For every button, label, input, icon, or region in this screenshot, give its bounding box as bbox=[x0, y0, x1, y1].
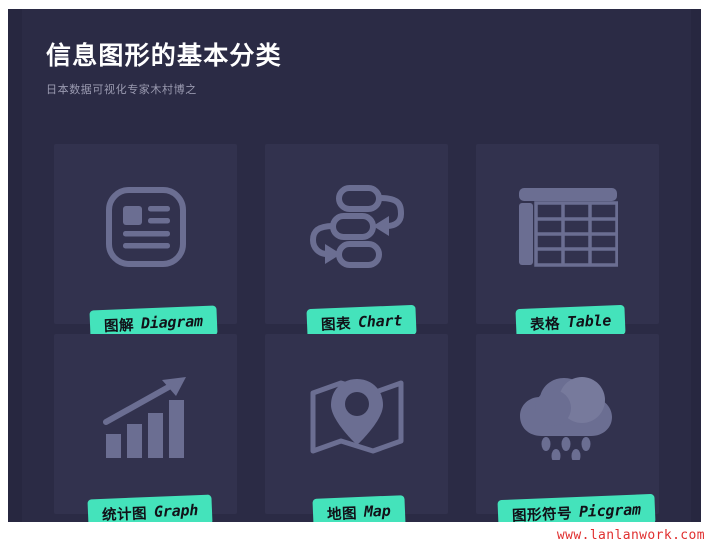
card-label-cn: 表格 bbox=[530, 312, 561, 334]
category-card-diagram[interactable]: 图解 Diagram bbox=[54, 144, 237, 324]
table-icon bbox=[476, 144, 659, 324]
card-label-graph: 统计图 Graph bbox=[87, 495, 212, 522]
card-label-en: Graph bbox=[154, 501, 199, 521]
category-card-picgram[interactable]: 图形符号 Picgram bbox=[476, 334, 659, 514]
card-label-cn: 图解 bbox=[104, 313, 135, 335]
category-card-chart[interactable]: 图表 Chart bbox=[265, 144, 448, 324]
card-label-en: Diagram bbox=[141, 312, 204, 332]
card-label-cn: 统计图 bbox=[102, 502, 148, 522]
card-label-en: Table bbox=[567, 311, 612, 331]
card-label-cn: 图表 bbox=[321, 312, 352, 334]
category-grid: 图解 Diagram 图 bbox=[54, 144, 660, 514]
card-label-map: 地图 Map bbox=[312, 495, 405, 522]
watermark: www.lanlanwork.com bbox=[557, 528, 705, 543]
page-subtitle: 日本数据可视化专家木村博之 bbox=[46, 81, 606, 97]
map-pin-icon bbox=[265, 334, 448, 514]
slide-header: 信息图形的基本分类 日本数据可视化专家木村博之 bbox=[46, 42, 606, 97]
card-label-cn: 图形符号 bbox=[512, 502, 573, 522]
slide-canvas: 信息图形的基本分类 日本数据可视化专家木村博之 图解 Diagram bbox=[8, 9, 701, 522]
card-label-en: Chart bbox=[358, 311, 403, 331]
card-label-cn: 地图 bbox=[327, 502, 358, 522]
rain-cloud-icon bbox=[476, 334, 659, 514]
diagram-icon bbox=[54, 144, 237, 324]
card-label-en: Map bbox=[364, 502, 391, 521]
category-card-map[interactable]: 地图 Map bbox=[265, 334, 448, 514]
bar-chart-arrow-icon bbox=[54, 334, 237, 514]
category-card-table[interactable]: 表格 Table bbox=[476, 144, 659, 324]
page-title: 信息图形的基本分类 bbox=[46, 42, 606, 71]
flowchart-icon bbox=[265, 144, 448, 324]
category-card-graph[interactable]: 统计图 Graph bbox=[54, 334, 237, 514]
card-label-en: Picgram bbox=[579, 500, 642, 520]
